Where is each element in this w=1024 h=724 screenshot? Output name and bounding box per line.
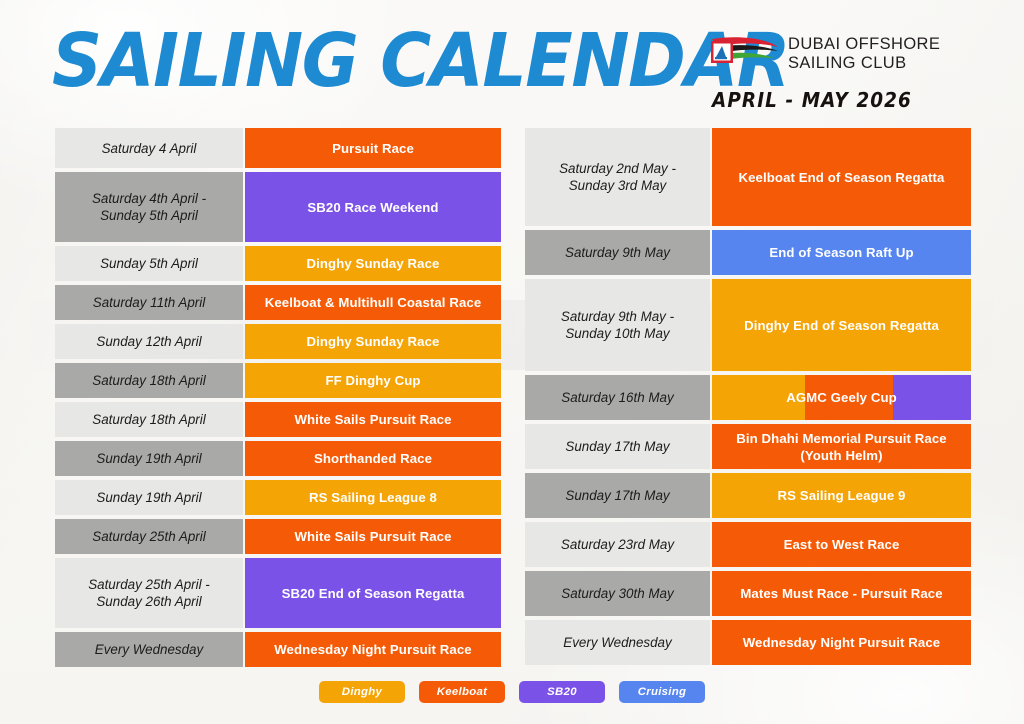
event-name-cell[interactable]: SB20 End of Season Regatta [245, 558, 501, 628]
event-date-label: Sunday 12th April [96, 333, 201, 350]
event-name-label: Mates Must Race - Pursuit Race [740, 585, 942, 602]
event-name-cell[interactable]: Dinghy Sunday Race [245, 324, 501, 359]
calendar-row: Saturday 18th AprilWhite Sails Pursuit R… [55, 402, 501, 437]
event-date-label: Every Wednesday [563, 634, 671, 651]
legend-pill-cruising[interactable]: Cruising [619, 681, 705, 703]
calendar-row: Sunday 17th MayBin Dhahi Memorial Pursui… [525, 424, 971, 469]
event-date-label: Saturday 30th May [561, 585, 673, 602]
event-date-cell: Saturday 25th April -Sunday 26th April [55, 558, 243, 628]
event-name-cell[interactable]: White Sails Pursuit Race [245, 402, 501, 437]
event-name-label: White Sails Pursuit Race [294, 411, 451, 428]
calendar-row: Sunday 12th AprilDinghy Sunday Race [55, 324, 501, 359]
event-name-cell[interactable]: East to West Race [712, 522, 971, 567]
legend-pill-sb20[interactable]: SB20 [519, 681, 605, 703]
event-name-label: SB20 End of Season Regatta [282, 585, 465, 602]
event-date-label: Saturday 18th April [92, 411, 205, 428]
calendar-row: Saturday 4th April -Sunday 5th AprilSB20… [55, 172, 501, 242]
event-name-cell[interactable]: Pursuit Race [245, 128, 501, 168]
event-name-cell[interactable]: Keelboat End of Season Regatta [712, 128, 971, 226]
event-name-cell[interactable]: White Sails Pursuit Race [245, 519, 501, 554]
event-name-cell[interactable]: Wednesday Night Pursuit Race [245, 632, 501, 667]
event-name-cell[interactable]: Dinghy Sunday Race [245, 246, 501, 281]
event-date-label: Saturday 18th April [92, 372, 205, 389]
calendar-columns: Saturday 4 AprilPursuit RaceSaturday 4th… [0, 128, 1024, 673]
legend-pill-label: Dinghy [342, 686, 382, 698]
event-name-cell[interactable]: FF Dinghy Cup [245, 363, 501, 398]
poster-header: SAILING CALENDAR DUBAI OFFSHORE SAILING … [0, 0, 1024, 126]
event-date-cell: Sunday 17th May [525, 424, 710, 469]
event-date-label: Saturday 2nd May -Sunday 3rd May [559, 160, 676, 194]
event-name-cell[interactable]: Shorthanded Race [245, 441, 501, 476]
calendar-row: Saturday 30th MayMates Must Race - Pursu… [525, 571, 971, 616]
calendar-period: APRIL - MAY 2026 [712, 88, 912, 112]
event-name-label: Dinghy End of Season Regatta [744, 317, 939, 334]
event-date-cell: Saturday 9th May [525, 230, 710, 275]
event-name-cell[interactable]: End of Season Raft Up [712, 230, 971, 275]
event-date-cell: Sunday 12th April [55, 324, 243, 359]
event-date-cell: Saturday 4th April -Sunday 5th April [55, 172, 243, 242]
category-band-sb20 [893, 375, 971, 420]
event-date-cell: Sunday 19th April [55, 441, 243, 476]
event-date-cell: Saturday 9th May -Sunday 10th May [525, 279, 710, 371]
event-date-cell: Saturday 18th April [55, 402, 243, 437]
event-date-cell: Sunday 17th May [525, 473, 710, 518]
calendar-row: Saturday 23rd MayEast to West Race [525, 522, 971, 567]
event-name-cell[interactable]: Dinghy End of Season Regatta [712, 279, 971, 371]
calendar-row: Saturday 25th AprilWhite Sails Pursuit R… [55, 519, 501, 554]
event-date-label: Saturday 23rd May [561, 536, 674, 553]
dosc-burgee-swoosh-logo-icon [708, 33, 780, 73]
event-date-label: Saturday 9th May -Sunday 10th May [561, 308, 674, 342]
event-name-cell[interactable]: RS Sailing League 9 [712, 473, 971, 518]
event-name-label: RS Sailing League 9 [778, 487, 906, 504]
club-branding: DUBAI OFFSHORE SAILING CLUB APRIL - MAY … [708, 33, 1008, 119]
calendar-column-may: Saturday 2nd May -Sunday 3rd MayKeelboat… [525, 128, 971, 669]
event-date-label: Sunday 17th May [565, 438, 669, 455]
event-date-cell: Saturday 23rd May [525, 522, 710, 567]
event-name-label: RS Sailing League 8 [309, 489, 437, 506]
event-name-label: Dinghy Sunday Race [307, 255, 440, 272]
calendar-row: Every WednesdayWednesday Night Pursuit R… [525, 620, 971, 665]
calendar-row: Saturday 9th May -Sunday 10th MayDinghy … [525, 279, 971, 371]
legend-pill-label: Keelboat [437, 686, 488, 698]
event-date-cell: Saturday 18th April [55, 363, 243, 398]
club-name: DUBAI OFFSHORE SAILING CLUB [788, 35, 940, 73]
event-name-cell[interactable]: Keelboat & Multihull Coastal Race [245, 285, 501, 320]
event-date-label: Sunday 17th May [565, 487, 669, 504]
calendar-column-april: Saturday 4 AprilPursuit RaceSaturday 4th… [55, 128, 501, 671]
event-name-cell[interactable]: Wednesday Night Pursuit Race [712, 620, 971, 665]
category-legend: DinghyKeelboatSB20Cruising [0, 681, 1024, 703]
calendar-row: Saturday 18th AprilFF Dinghy Cup [55, 363, 501, 398]
event-name-cell[interactable]: SB20 Race Weekend [245, 172, 501, 242]
event-date-cell: Saturday 11th April [55, 285, 243, 320]
legend-pill-label: Cruising [638, 686, 687, 698]
event-name-label: Keelboat End of Season Regatta [739, 169, 945, 186]
event-date-label: Every Wednesday [95, 641, 203, 658]
calendar-row: Saturday 2nd May -Sunday 3rd MayKeelboat… [525, 128, 971, 226]
event-name-label: End of Season Raft Up [769, 244, 913, 261]
event-name-label: White Sails Pursuit Race [294, 528, 451, 545]
calendar-row: Saturday 11th AprilKeelboat & Multihull … [55, 285, 501, 320]
event-name-label: Shorthanded Race [314, 450, 432, 467]
calendar-row: Saturday 9th MayEnd of Season Raft Up [525, 230, 971, 275]
legend-pill-keelboat[interactable]: Keelboat [419, 681, 505, 703]
calendar-row: Saturday 4 AprilPursuit Race [55, 128, 501, 168]
event-name-label: SB20 Race Weekend [307, 199, 438, 216]
event-name-cell[interactable]: Mates Must Race - Pursuit Race [712, 571, 971, 616]
event-name-label: Keelboat & Multihull Coastal Race [265, 294, 482, 311]
event-name-label: FF Dinghy Cup [325, 372, 420, 389]
legend-pill-label: SB20 [547, 686, 577, 698]
event-date-cell: Saturday 25th April [55, 519, 243, 554]
event-name-label: Pursuit Race [332, 140, 414, 157]
event-name-label: Wednesday Night Pursuit Race [743, 634, 940, 651]
calendar-row: Sunday 5th AprilDinghy Sunday Race [55, 246, 501, 281]
event-name-label: AGMC Geely Cup [786, 389, 897, 406]
event-date-label: Saturday 25th April -Sunday 26th April [88, 576, 210, 610]
page-title: SAILING CALENDAR [52, 20, 789, 102]
event-name-label: Wednesday Night Pursuit Race [274, 641, 471, 658]
event-date-cell: Saturday 4 April [55, 128, 243, 168]
event-name-label: East to West Race [784, 536, 900, 553]
event-date-cell: Every Wednesday [525, 620, 710, 665]
calendar-row: Saturday 16th MayAGMC Geely Cup [525, 375, 971, 420]
event-name-label: Dinghy Sunday Race [307, 333, 440, 350]
event-date-label: Saturday 25th April [92, 528, 205, 545]
event-date-label: Sunday 5th April [100, 255, 198, 272]
event-name-cell[interactable]: RS Sailing League 8 [245, 480, 501, 515]
calendar-row: Sunday 17th MayRS Sailing League 9 [525, 473, 971, 518]
event-name-label: Bin Dhahi Memorial Pursuit Race(Youth He… [736, 430, 946, 464]
calendar-row: Sunday 19th AprilShorthanded Race [55, 441, 501, 476]
event-date-label: Saturday 16th May [561, 389, 673, 406]
legend-pill-dinghy[interactable]: Dinghy [319, 681, 405, 703]
event-name-cell[interactable]: Bin Dhahi Memorial Pursuit Race(Youth He… [712, 424, 971, 469]
event-date-cell: Sunday 19th April [55, 480, 243, 515]
event-date-label: Saturday 11th April [93, 294, 205, 311]
calendar-row: Every WednesdayWednesday Night Pursuit R… [55, 632, 501, 667]
event-date-cell: Every Wednesday [55, 632, 243, 667]
event-date-label: Saturday 4th April -Sunday 5th April [92, 190, 206, 224]
event-date-label: Saturday 4 April [102, 140, 197, 157]
event-name-cell[interactable]: AGMC Geely Cup [712, 375, 971, 420]
event-date-cell: Sunday 5th April [55, 246, 243, 281]
event-date-cell: Saturday 2nd May -Sunday 3rd May [525, 128, 710, 226]
calendar-row: Sunday 19th AprilRS Sailing League 8 [55, 480, 501, 515]
sailing-calendar-poster: SAILING CALENDAR DUBAI OFFSHORE SAILING … [0, 0, 1024, 724]
club-name-line1: DUBAI OFFSHORE [788, 35, 940, 54]
club-name-line2: SAILING CLUB [788, 54, 940, 73]
event-date-cell: Saturday 30th May [525, 571, 710, 616]
calendar-row: Saturday 25th April -Sunday 26th AprilSB… [55, 558, 501, 628]
event-date-label: Sunday 19th April [96, 489, 201, 506]
event-date-label: Saturday 9th May [565, 244, 670, 261]
event-date-cell: Saturday 16th May [525, 375, 710, 420]
event-date-label: Sunday 19th April [96, 450, 201, 467]
